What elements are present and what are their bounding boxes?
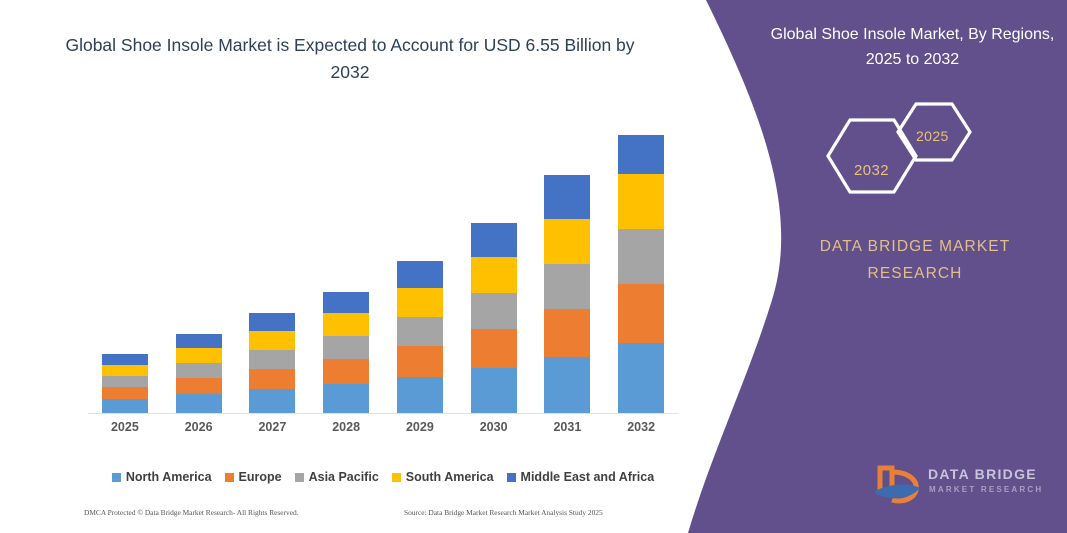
bar-segment-2025-europe[interactable] — [102, 387, 148, 399]
legend-swatch-icon — [295, 473, 304, 482]
bar-segment-2026-south-america[interactable] — [176, 348, 222, 363]
legend-label: Europe — [239, 470, 282, 484]
x-tick-2029: 2029 — [385, 420, 455, 434]
bar-segment-2027-middle-east-and-africa[interactable] — [249, 313, 295, 331]
footer: DMCA Protected © Data Bridge Market Rese… — [84, 508, 684, 522]
bar-2032[interactable] — [618, 135, 664, 413]
legend-swatch-icon — [392, 473, 401, 482]
bar-segment-2026-asia-pacific[interactable] — [176, 363, 222, 378]
legend-item-asia-pacific[interactable]: Asia Pacific — [295, 470, 379, 484]
right-panel-title: Global Shoe Insole Market, By Regions, 2… — [770, 22, 1055, 72]
bar-segment-2029-europe[interactable] — [397, 346, 443, 377]
legend-item-europe[interactable]: Europe — [225, 470, 282, 484]
bar-segment-2027-europe[interactable] — [249, 369, 295, 389]
bar-segment-2032-south-america[interactable] — [618, 174, 664, 229]
bar-segment-2032-asia-pacific[interactable] — [618, 229, 664, 284]
logo-text-sub: MARKET RESEARCH — [929, 485, 1043, 494]
x-tick-2025: 2025 — [90, 420, 160, 434]
legend-label: Middle East and Africa — [521, 470, 655, 484]
x-axis-labels: 20252026202720282029203020312032 — [88, 420, 678, 440]
brand-name: DATA BRIDGE MARKET RESEARCH — [790, 233, 1040, 287]
infographic-root: Global Shoe Insole Market is Expected to… — [0, 0, 1067, 533]
legend-swatch-icon — [507, 473, 516, 482]
bar-segment-2027-south-america[interactable] — [249, 331, 295, 350]
legend-label: South America — [406, 470, 494, 484]
hexagon-2032-shape — [828, 120, 916, 192]
bar-segment-2031-south-america[interactable] — [544, 219, 590, 264]
legend-item-north-america[interactable]: North America — [112, 470, 212, 484]
bar-segment-2030-south-america[interactable] — [471, 257, 517, 293]
bar-segment-2032-middle-east-and-africa[interactable] — [618, 135, 664, 174]
legend-label: Asia Pacific — [309, 470, 379, 484]
hexagon-2032-label: 2032 — [854, 162, 889, 179]
bar-segment-2028-north-america[interactable] — [323, 384, 369, 413]
chart-title: Global Shoe Insole Market is Expected to… — [60, 32, 640, 86]
x-tick-2031: 2031 — [532, 420, 602, 434]
bar-2027[interactable] — [249, 313, 295, 413]
hexagon-2025-label: 2025 — [916, 128, 949, 144]
bar-segment-2031-asia-pacific[interactable] — [544, 264, 590, 309]
bar-segment-2029-middle-east-and-africa[interactable] — [397, 261, 443, 288]
bar-segment-2026-middle-east-and-africa[interactable] — [176, 334, 222, 348]
bar-segment-2028-asia-pacific[interactable] — [323, 336, 369, 359]
bar-2028[interactable] — [323, 292, 369, 413]
bar-2030[interactable] — [471, 223, 517, 413]
bar-segment-2029-north-america[interactable] — [397, 377, 443, 413]
brand-name-line1: DATA BRIDGE MARKET — [790, 233, 1040, 260]
bar-segment-2026-north-america[interactable] — [176, 394, 222, 413]
bar-segment-2028-middle-east-and-africa[interactable] — [323, 292, 369, 313]
bar-segment-2032-europe[interactable] — [618, 284, 664, 343]
hexagon-badges: 2032 2025 — [810, 100, 1030, 210]
legend-item-middle-east-and-africa[interactable]: Middle East and Africa — [507, 470, 655, 484]
bar-segment-2030-asia-pacific[interactable] — [471, 293, 517, 329]
bar-segment-2025-middle-east-and-africa[interactable] — [102, 354, 148, 365]
x-tick-2026: 2026 — [164, 420, 234, 434]
logo-mark-icon — [872, 462, 924, 506]
bar-segment-2027-asia-pacific[interactable] — [249, 350, 295, 369]
legend-swatch-icon — [112, 473, 121, 482]
bar-segment-2027-north-america[interactable] — [249, 389, 295, 413]
footer-copyright: DMCA Protected © Data Bridge Market Rese… — [84, 508, 299, 517]
bar-segment-2028-south-america[interactable] — [323, 313, 369, 336]
bar-segment-2030-middle-east-and-africa[interactable] — [471, 223, 517, 257]
x-tick-2030: 2030 — [459, 420, 529, 434]
bar-segment-2030-europe[interactable] — [471, 329, 517, 368]
bar-segment-2031-middle-east-and-africa[interactable] — [544, 175, 590, 219]
bar-segment-2031-north-america[interactable] — [544, 357, 590, 413]
bar-segment-2030-north-america[interactable] — [471, 368, 517, 413]
legend-swatch-icon — [225, 473, 234, 482]
bar-2031[interactable] — [544, 175, 590, 413]
x-tick-2027: 2027 — [237, 420, 307, 434]
footer-source: Source: Data Bridge Market Research Mark… — [404, 508, 603, 517]
bar-segment-2025-north-america[interactable] — [102, 399, 148, 413]
bar-segment-2032-north-america[interactable] — [618, 343, 664, 413]
legend-label: North America — [126, 470, 212, 484]
chart-legend: North AmericaEuropeAsia PacificSouth Ame… — [88, 470, 678, 484]
legend-item-south-america[interactable]: South America — [392, 470, 494, 484]
x-tick-2032: 2032 — [606, 420, 676, 434]
brand-name-line2: RESEARCH — [790, 260, 1040, 287]
bar-segment-2026-europe[interactable] — [176, 378, 222, 394]
x-tick-2028: 2028 — [311, 420, 381, 434]
bar-2026[interactable] — [176, 334, 222, 413]
chart-baseline — [88, 413, 678, 414]
bar-2025[interactable] — [102, 354, 148, 413]
stacked-bar-chart — [88, 120, 678, 414]
bar-2029[interactable] — [397, 261, 443, 413]
data-bridge-logo: DATA BRIDGE MARKET RESEARCH — [872, 462, 1052, 508]
bar-segment-2025-asia-pacific[interactable] — [102, 376, 148, 387]
bar-segment-2029-asia-pacific[interactable] — [397, 317, 443, 346]
bar-segment-2031-europe[interactable] — [544, 309, 590, 357]
logo-text-main: DATA BRIDGE — [928, 466, 1037, 482]
chart-panel: Global Shoe Insole Market is Expected to… — [0, 0, 700, 533]
bar-segment-2028-europe[interactable] — [323, 359, 369, 384]
bar-segment-2029-south-america[interactable] — [397, 288, 443, 317]
bar-segment-2025-south-america[interactable] — [102, 365, 148, 376]
